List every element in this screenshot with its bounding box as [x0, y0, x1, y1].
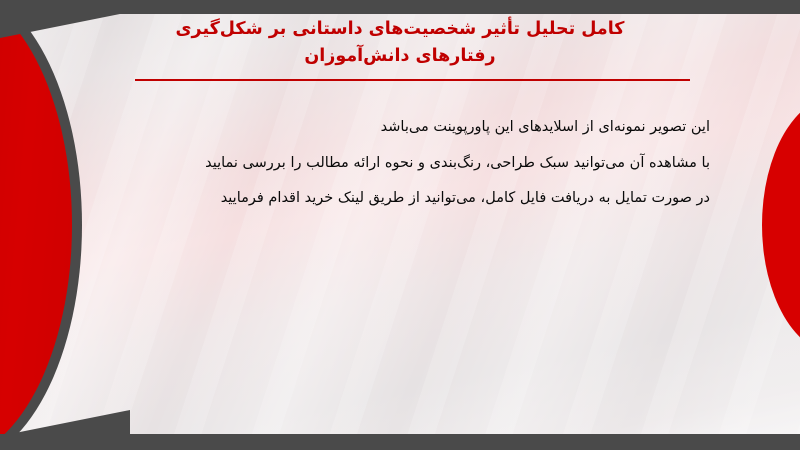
- slide-title-line-1: کامل تحلیل تأثیر شخصیت‌های داستانی بر شک…: [110, 16, 690, 43]
- presentation-slide: کامل تحلیل تأثیر شخصیت‌های داستانی بر شک…: [0, 0, 800, 450]
- slide-body-text: این تصویر نمونه‌ای از اسلایدهای این پاور…: [120, 110, 710, 217]
- slide-body-line-3: در صورت تمایل به دریافت فایل کامل، می‌تو…: [120, 181, 710, 217]
- slide-title-line-2: رفتارهای دانش‌آموزان: [110, 43, 690, 70]
- slide-title: کامل تحلیل تأثیر شخصیت‌های داستانی بر شک…: [110, 16, 690, 70]
- title-underline-rule: [135, 79, 690, 81]
- slide-body-line-1: این تصویر نمونه‌ای از اسلایدهای این پاور…: [120, 110, 710, 146]
- bottom-frame-bar: [0, 434, 800, 450]
- slide-body-line-2: با مشاهده آن می‌توانید سبک طراحی، رنگ‌بن…: [120, 146, 710, 182]
- slide-content: کامل تحلیل تأثیر شخصیت‌های داستانی بر شک…: [0, 12, 800, 436]
